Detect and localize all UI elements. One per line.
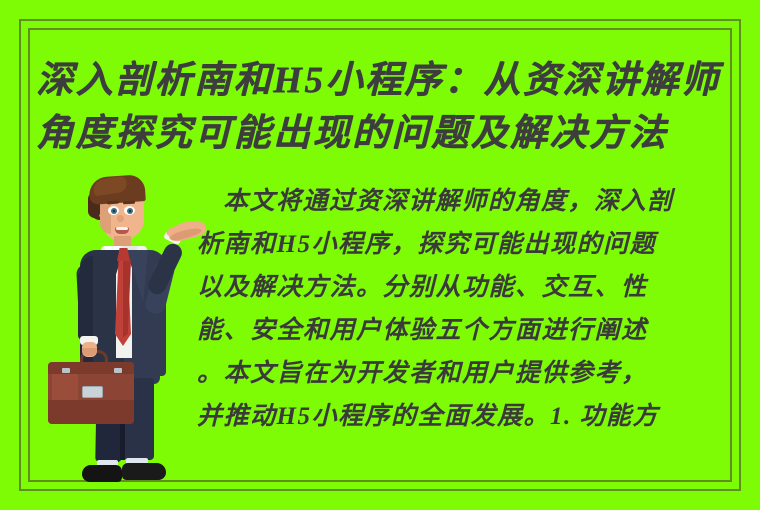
article-summary-line-5: 。本文旨在为开发者和用户提供参考，	[197, 352, 735, 395]
pupil-right	[127, 208, 133, 214]
poster-canvas: 深入剖析南和H5小程序：从资深讲解师 角度探究可能出现的问题及解决方法 本文将通…	[0, 0, 760, 510]
businessman-illustration	[38, 172, 248, 492]
page-title: 深入剖析南和H5小程序：从资深讲解师 角度探究可能出现的问题及解决方法	[36, 54, 726, 160]
page-title-line-1: 深入剖析南和H5小程序：从资深讲解师	[36, 54, 726, 107]
briefcase-shading	[48, 400, 134, 424]
teeth	[116, 227, 128, 230]
article-summary-line-6: 并推动H5小程序的全面发展。1. 功能方	[197, 395, 735, 438]
article-summary-line-3: 以及解决方法。分别从功能、交互、性	[197, 266, 735, 309]
article-summary-line-2: 析南和H5小程序，探究可能出现的问题	[197, 223, 735, 266]
pupil-left	[111, 208, 117, 214]
eyebrow-right	[123, 201, 135, 205]
article-summary-line-4: 能、安全和用户体验五个方面进行阐述	[197, 309, 735, 352]
briefcase-stud-left	[62, 368, 70, 373]
article-summary: 本文将通过资深讲解师的角度，深入剖 析南和H5小程序，探究可能出现的问题 以及解…	[197, 180, 735, 438]
briefcase-clasp	[82, 386, 103, 398]
article-summary-line-1: 本文将通过资深讲解师的角度，深入剖	[197, 180, 735, 223]
shoe-right	[122, 463, 166, 480]
briefcase-stud-right	[114, 368, 122, 373]
nose	[117, 215, 124, 222]
shoe-left	[82, 465, 122, 482]
page-title-line-2: 角度探究可能出现的问题及解决方法	[36, 107, 726, 160]
